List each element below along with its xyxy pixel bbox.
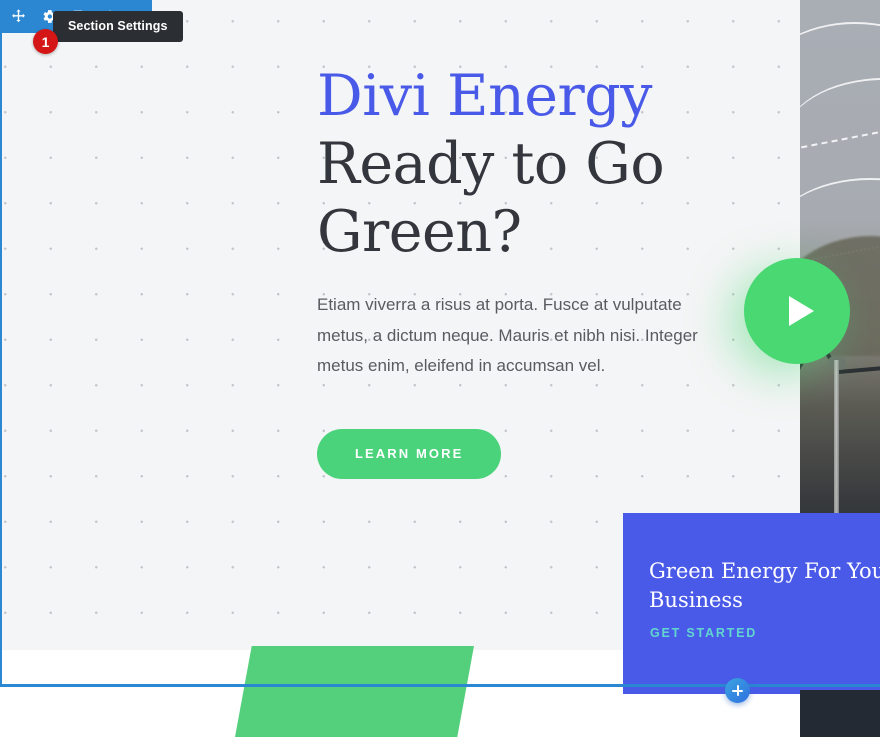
builder-viewport: Divi EnergyReady to Go Green? Etiam vive…	[0, 0, 880, 737]
hero-title-main: Ready to Go Green?	[317, 131, 664, 265]
next-section-preview	[800, 690, 880, 737]
plus-icon	[732, 685, 743, 696]
promo-card[interactable]: Green Energy For Your Business GET START…	[623, 513, 880, 694]
hero-title-accent: Divi Energy	[317, 62, 747, 130]
get-started-link[interactable]: GET STARTED	[650, 626, 757, 640]
video-play-button[interactable]	[744, 258, 850, 364]
learn-more-button[interactable]: LEARN MORE	[317, 429, 501, 479]
move-icon[interactable]	[10, 8, 27, 25]
section-settings-tooltip: Section Settings	[53, 11, 183, 42]
page-title: Divi EnergyReady to Go Green?	[317, 62, 747, 266]
hero-body-text: Etiam viverra a risus at porta. Fusce at…	[317, 290, 729, 382]
play-icon	[789, 296, 814, 326]
page-canvas: Divi EnergyReady to Go Green? Etiam vive…	[0, 0, 880, 737]
promo-card-title: Green Energy For Your Business	[649, 557, 880, 615]
add-section-button[interactable]	[725, 678, 750, 703]
status-badge: 1	[33, 29, 58, 54]
hero-text-block: Divi EnergyReady to Go Green? Etiam vive…	[317, 62, 747, 479]
green-slant-shape	[235, 646, 474, 737]
